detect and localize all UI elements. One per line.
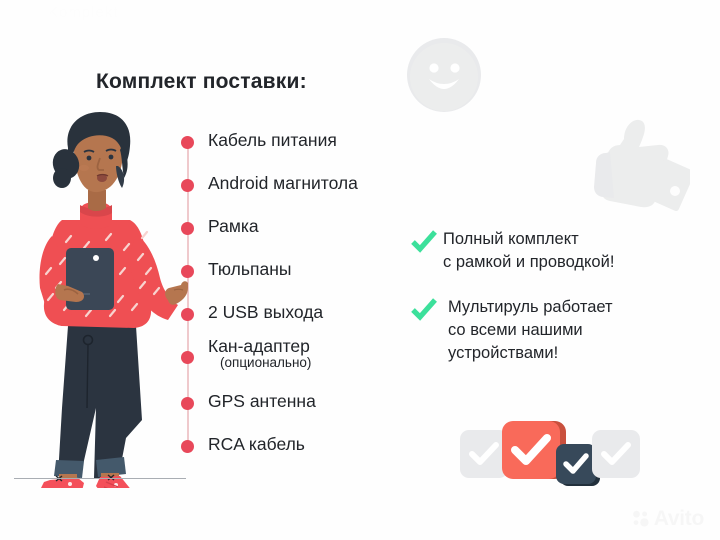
checkbox-card-navy (556, 444, 596, 484)
list-item: RCA кабель (178, 434, 408, 464)
benefit-line-3: устройствами! (448, 344, 558, 362)
list-item: 2 USB выхода (178, 302, 408, 332)
checkbox-card-gray-right (592, 430, 640, 478)
benefit-line-2: со всеми нашими (448, 321, 583, 339)
ground-line (14, 478, 186, 479)
checkbox-card-gray-left (460, 430, 508, 478)
benefit-line: Мультируль работает со всеми нашими устр… (448, 296, 711, 365)
list-item: Рамка (178, 216, 408, 246)
page-title: Комплект поставки: (96, 70, 307, 94)
list-item-label: Android магнитола (208, 170, 358, 196)
green-check-icon (411, 230, 437, 254)
benefit-line: Полный комплект с рамкой и проводкой! (443, 228, 711, 274)
benefit-line-1: Мультируль работает (448, 298, 613, 316)
benefit-item: Полный комплект с рамкой и проводкой! (411, 228, 711, 274)
benefits-block: Полный комплект с рамкой и проводкой! Му… (411, 228, 711, 381)
list-item-label: Рамка (208, 213, 259, 239)
list-item-label: 2 USB выхода (208, 299, 323, 325)
avito-logo-icon (632, 510, 650, 528)
woman-pointing-illustration (18, 108, 188, 488)
benefit-item: Мультируль работает со всеми нашими устр… (411, 296, 711, 365)
green-check-icon (411, 298, 437, 322)
benefit-line-2: с рамкой и проводкой! (443, 253, 614, 271)
check-icon (556, 444, 596, 484)
list-item: Кабель питания (178, 130, 408, 160)
promo-image-canvas: Komplekt Комплект поставки: Кабель питан… (0, 0, 720, 540)
check-icon (502, 421, 560, 479)
avito-wordmark: Avito (654, 510, 704, 528)
list-item-label: Тюльпаны (208, 256, 291, 282)
check-icon (460, 430, 508, 478)
thumbs-up-icon (580, 115, 690, 220)
checkbox-card-coral (502, 421, 560, 479)
checkbox-cards-group (460, 412, 640, 490)
list-item: Android магнитола (178, 173, 408, 203)
list-item: Тюльпаны (178, 259, 408, 289)
list-item: Кан-адаптер (опционально) (178, 345, 408, 375)
avito-watermark: Avito (632, 510, 704, 528)
top-watermark-text: Komplekt (48, 4, 119, 21)
benefit-line-1: Полный комплект (443, 230, 579, 248)
smiley-face-icon (406, 37, 482, 113)
package-contents-list: Кабель питания Android магнитола Рамка Т… (178, 130, 408, 460)
list-item-sublabel: (опционально) (220, 354, 311, 372)
list-item-label: Кабель питания (208, 127, 337, 153)
list-item-label: GPS антенна (208, 388, 316, 414)
list-item: GPS антенна (178, 391, 408, 421)
list-item-label: RCA кабель (208, 431, 305, 457)
check-icon (592, 430, 640, 478)
